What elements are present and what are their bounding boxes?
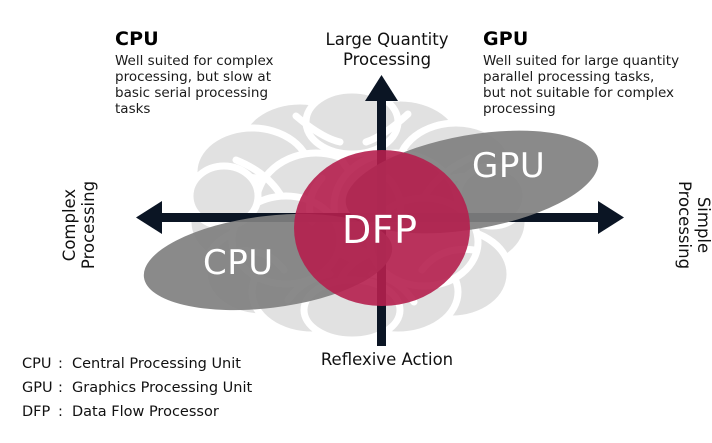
legend-abbr: GPU bbox=[22, 380, 58, 396]
callout-gpu: GPU Well suited for large quantity paral… bbox=[483, 28, 708, 118]
callout-gpu-body: Well suited for large quantity parallel … bbox=[483, 53, 708, 118]
dfp-ellipse-label: DFP bbox=[342, 208, 418, 252]
axis-label-large-quantity-processing: Large Quantity Processing bbox=[287, 30, 487, 70]
legend-separator: : bbox=[58, 356, 72, 372]
diagram-canvas: GPU CPU DFP Large Quantity Processing Re… bbox=[0, 0, 712, 443]
axis-label-simple-processing: Simple Processing bbox=[674, 155, 712, 295]
abbreviation-legend: CPU : Central Processing Unit GPU : Grap… bbox=[22, 356, 252, 428]
callout-gpu-title: GPU bbox=[483, 28, 708, 51]
axis-label-reflexive-action: Reflexive Action bbox=[287, 350, 487, 370]
gpu-ellipse-label: GPU bbox=[472, 146, 545, 186]
legend-text: Graphics Processing Unit bbox=[72, 380, 252, 396]
callout-cpu: CPU Well suited for complex processing, … bbox=[115, 28, 315, 118]
legend-text: Data Flow Processor bbox=[72, 404, 219, 420]
legend-row: GPU : Graphics Processing Unit bbox=[22, 380, 252, 396]
legend-text: Central Processing Unit bbox=[72, 356, 241, 372]
callout-cpu-title: CPU bbox=[115, 28, 315, 51]
legend-row: DFP : Data Flow Processor bbox=[22, 404, 252, 420]
callout-cpu-body: Well suited for complex processing, but … bbox=[115, 53, 315, 118]
legend-row: CPU : Central Processing Unit bbox=[22, 356, 252, 372]
legend-separator: : bbox=[58, 404, 72, 420]
axis-label-complex-processing: Complex Processing bbox=[61, 155, 99, 295]
legend-abbr: DFP bbox=[22, 404, 58, 420]
legend-abbr: CPU bbox=[22, 356, 58, 372]
legend-separator: : bbox=[58, 380, 72, 396]
cpu-ellipse-label: CPU bbox=[203, 243, 274, 283]
